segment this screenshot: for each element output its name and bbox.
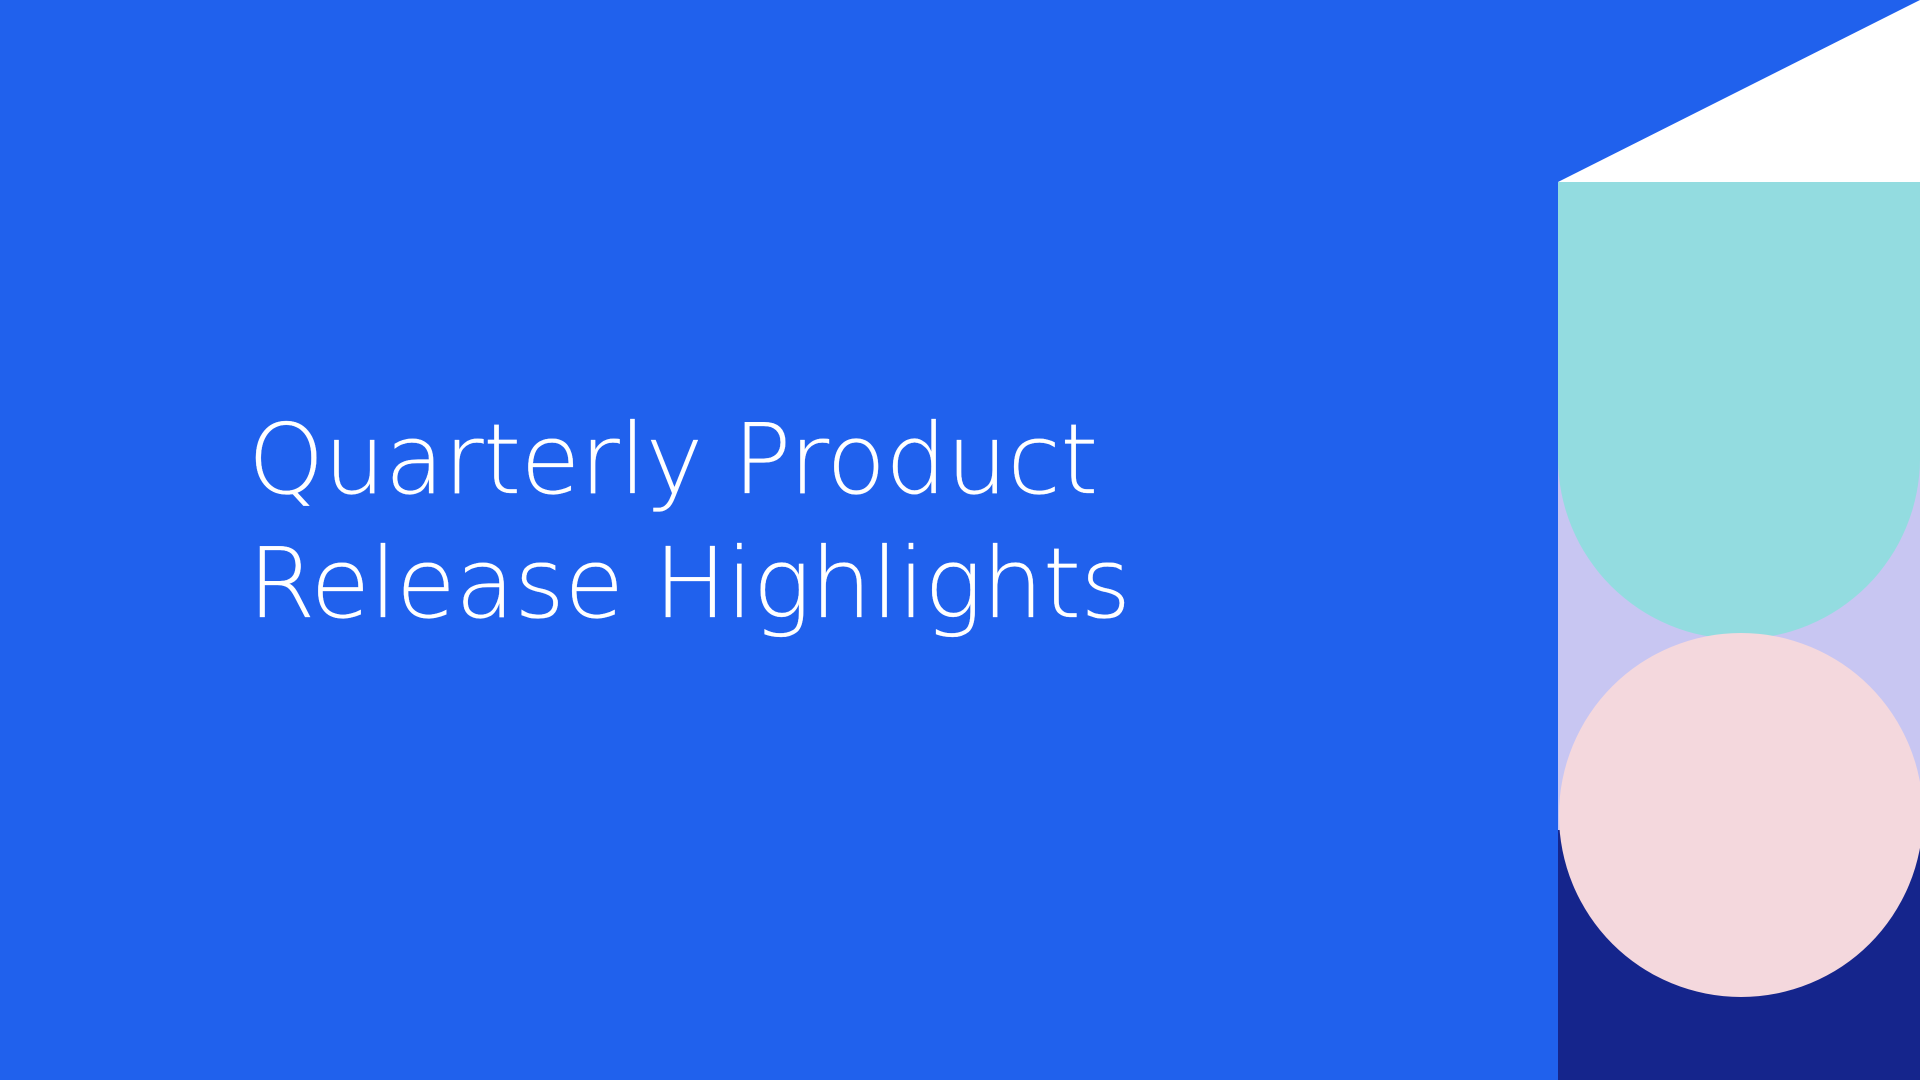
pink-circle-shape bbox=[1559, 633, 1920, 997]
lavender-panel-shape bbox=[1558, 182, 1920, 857]
title-line-1: Quarterly Product bbox=[248, 398, 1328, 522]
teal-arch-shape bbox=[1558, 182, 1920, 639]
title-slide: Quarterly Product Release Highlights bbox=[0, 0, 1920, 1080]
white-corner-wedge-shape bbox=[1558, 0, 1920, 182]
decorative-shape-group bbox=[1558, 0, 1920, 1080]
title-line-2: Release Highlights bbox=[248, 522, 1328, 646]
page-title: Quarterly Product Release Highlights bbox=[248, 398, 1328, 646]
navy-block-shape bbox=[1558, 830, 1920, 1080]
